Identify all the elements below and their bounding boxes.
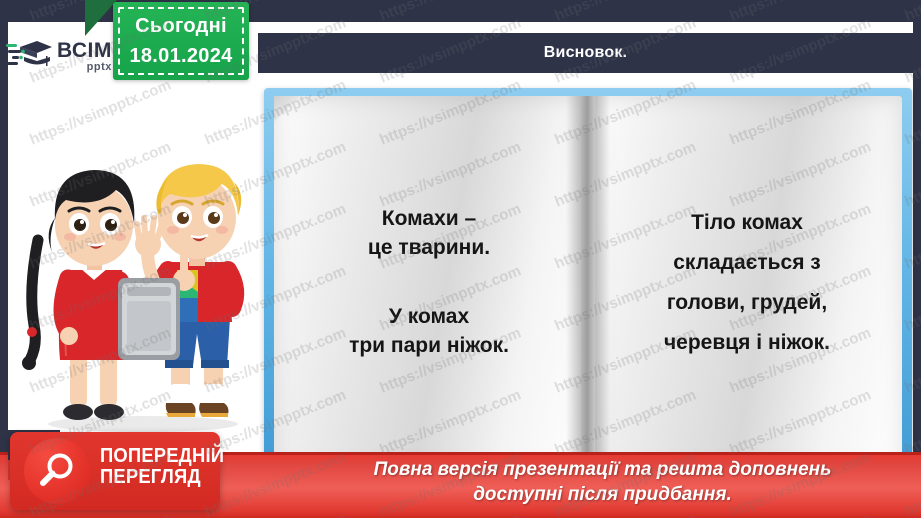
right-line-2: складається з [673, 251, 820, 274]
right-page-text: Тіло комах складається з голови, грудей,… [602, 88, 892, 478]
slide-title-bar: Висновок. [258, 33, 913, 73]
tablet-device [118, 278, 180, 360]
watermark-text: https://vsimpptx.com [902, 0, 921, 25]
watermark-text: https://vsimpptx.com [552, 0, 698, 25]
preview-label-line-1: ПОПЕРЕДНІЙ [100, 446, 224, 467]
purchase-notice-text: Повна версія презентації та решта доповн… [290, 458, 915, 507]
open-book: Комахи – це тварини. У комах три пари ні… [264, 88, 912, 478]
left-paragraph-1: Комахи – це тварини. [284, 205, 574, 263]
left-page-text: Комахи – це тварини. У комах три пари ні… [284, 88, 574, 478]
today-date-badge: Сьогодні 18.01.2024 [113, 2, 249, 80]
page-title: Висновок. [544, 44, 627, 62]
magnifier-icon [24, 438, 90, 504]
left-line-3: У комах [389, 305, 469, 328]
watermark-text: https://vsimpptx.com [377, 0, 523, 25]
brand-name: ВСІМ [57, 40, 112, 61]
brand-subtitle: pptx [57, 62, 112, 73]
preview-badge-labels: ПОПЕРЕДНІЙ ПЕРЕГЛЯД [100, 446, 235, 488]
today-label: Сьогодні [135, 15, 227, 38]
left-line-2: це тварини. [368, 236, 490, 259]
banner-line-2: доступні після придбання. [290, 483, 915, 508]
slide-root: ВСІМ pptx Сьогодні 18.01.2024 Висновок. [0, 0, 921, 518]
graduation-cap-icon [6, 36, 52, 76]
banner-line-1: Повна версія презентації та решта доповн… [290, 458, 915, 483]
brand-logo: ВСІМ pptx [6, 30, 126, 82]
left-paragraph-2: У комах три пари ніжок. [284, 303, 574, 361]
preview-badge[interactable]: ПОПЕРЕДНІЙ ПЕРЕГЛЯД [10, 432, 220, 510]
children-illustration [8, 120, 280, 450]
left-line-1: Комахи – [382, 207, 476, 230]
right-line-3: голови, грудей, [667, 291, 827, 314]
left-line-4: три пари ніжок. [349, 334, 509, 357]
watermark-text: https://vsimpptx.com [727, 0, 873, 25]
today-date: 18.01.2024 [129, 45, 232, 68]
right-line-1: Тіло комах [691, 211, 803, 234]
brand-logo-text: ВСІМ pptx [57, 40, 112, 73]
right-line-4: черевця і ніжок. [664, 331, 830, 354]
right-paragraph-1: Тіло комах складається з голови, грудей,… [602, 203, 892, 363]
preview-label-line-2: ПЕРЕГЛЯД [100, 467, 224, 488]
book-spine [581, 96, 595, 470]
